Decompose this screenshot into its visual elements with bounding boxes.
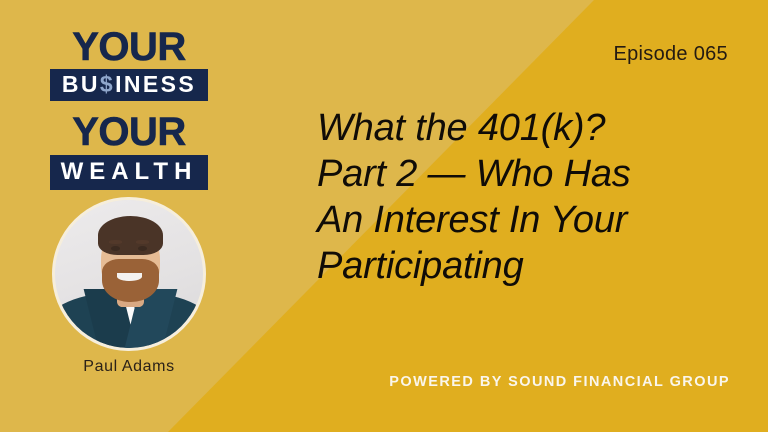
logo-badge-business-suffix: INESS [115, 71, 196, 97]
episode-number-label: Episode 065 [613, 43, 728, 66]
host-name-label: Paul Adams [52, 358, 206, 376]
portrait-eye-right [138, 246, 147, 251]
host-portrait-image [55, 200, 203, 348]
logo-word-your-bottom: YOUR [50, 113, 208, 151]
portrait-hair [98, 216, 163, 254]
portrait-eye-left [111, 246, 120, 251]
podcast-episode-card: YOUR BU$INESS YOUR WEALTH Paul Adams Epi… [0, 0, 768, 432]
title-line-1: What the 401(k)? [317, 106, 729, 152]
title-line-3: An Interest In Your [317, 198, 729, 244]
avatar [52, 197, 206, 351]
portrait-brow-right [136, 240, 149, 244]
title-line-2: Part 2 — Who Has [317, 152, 729, 198]
dollar-sign-icon: $ [100, 71, 115, 97]
logo-word-your-top: YOUR [50, 28, 208, 66]
logo-badge-business: BU$INESS [50, 69, 208, 101]
show-logo: YOUR BU$INESS YOUR WEALTH [50, 28, 208, 190]
page-title: What the 401(k)? Part 2 — Who Has An Int… [317, 106, 729, 290]
portrait-brow-left [109, 240, 122, 244]
logo-badge-wealth: WEALTH [50, 155, 208, 190]
title-line-4: Participating [317, 244, 729, 290]
powered-by-label: POWERED BY SOUND FINANCIAL GROUP [389, 374, 730, 390]
logo-badge-business-prefix: BU [62, 71, 100, 97]
